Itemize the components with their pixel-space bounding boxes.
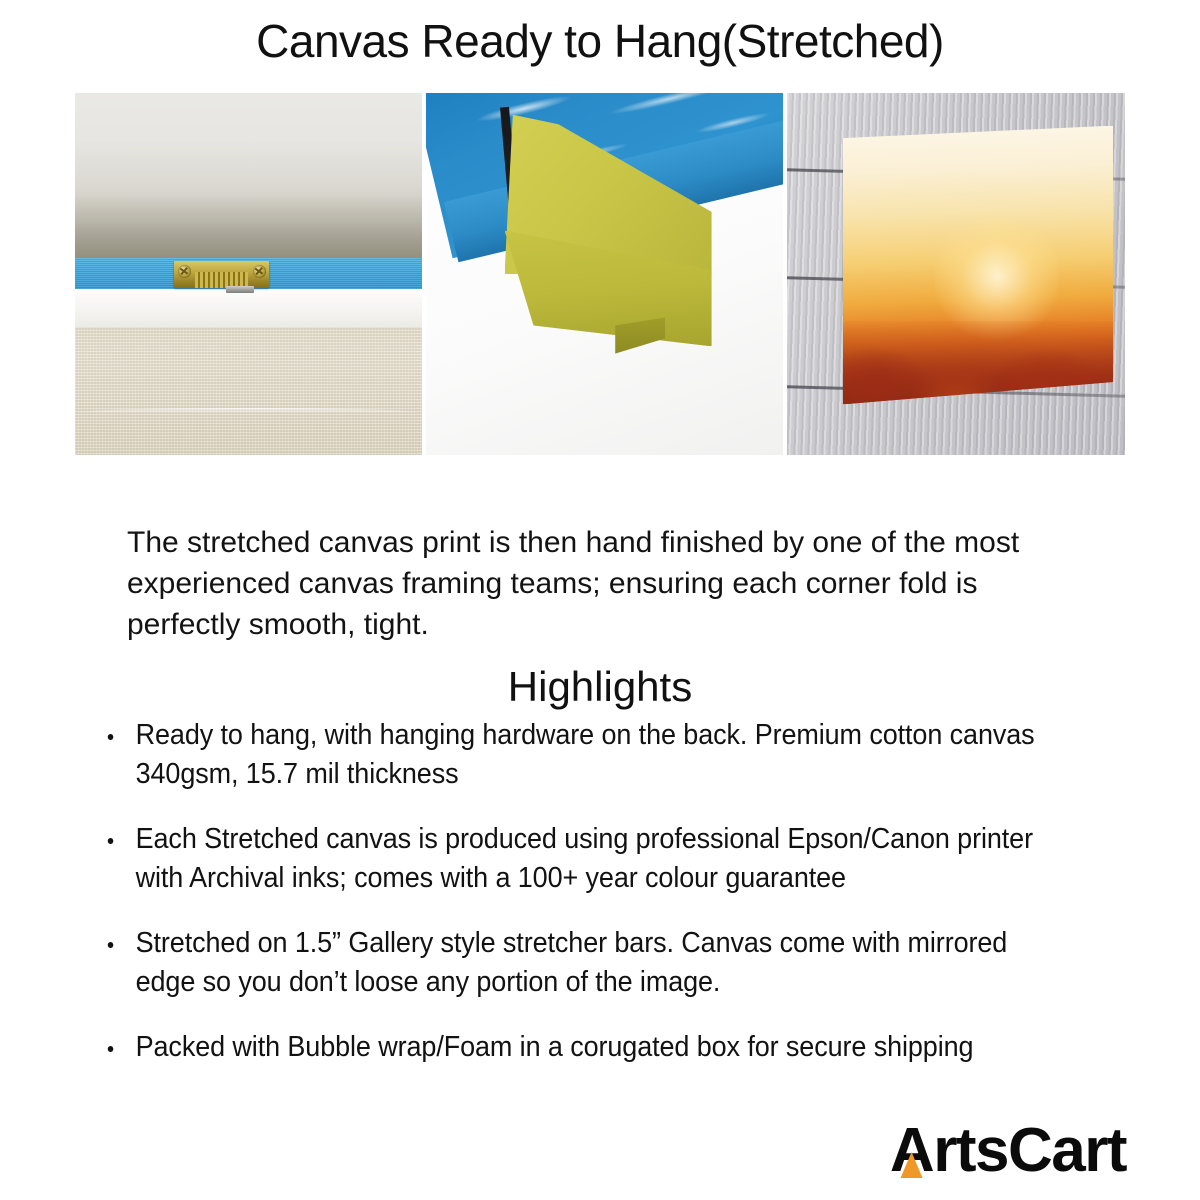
photo1-white-band <box>75 289 422 327</box>
hanger-screw-right <box>253 265 266 278</box>
photo1-wall-backdrop <box>75 93 422 258</box>
highlight-item-text: Packed with Bubble wrap/Foam in a coruga… <box>136 1031 974 1063</box>
bullet-dot-icon <box>108 942 114 948</box>
highlight-item: Packed with Bubble wrap/Foam in a coruga… <box>104 1028 1043 1067</box>
bullet-dot-icon <box>108 838 114 844</box>
logo-wordmark-rest: rtsCart <box>933 1120 1126 1182</box>
highlight-item-text: Ready to hang, with hanging hardware on … <box>136 719 1035 790</box>
logo-letter-a: A <box>890 1120 933 1182</box>
highlight-item-text: Each Stretched canvas is produced using … <box>136 823 1033 894</box>
bullet-dot-icon <box>108 1046 114 1052</box>
highlight-item: Ready to hang, with hanging hardware on … <box>104 716 1043 793</box>
hanger-screw-left <box>178 265 191 278</box>
photo3-sunset-canvas-print <box>843 126 1113 405</box>
photo1-canvas-texture <box>75 327 422 455</box>
canvas-back-hanger-image <box>75 93 422 455</box>
highlights-heading: Highlights <box>0 663 1200 711</box>
sawtooth-hanger-icon <box>174 261 269 288</box>
highlight-item: Stretched on 1.5” Gallery style stretche… <box>104 924 1043 1001</box>
canvas-on-wall-image <box>787 93 1125 455</box>
highlight-item: Each Stretched canvas is produced using … <box>104 820 1043 897</box>
highlights-list: Ready to hang, with hanging hardware on … <box>104 716 1114 1094</box>
photo1-canvas-highlight <box>75 408 422 413</box>
highlight-item-text: Stretched on 1.5” Gallery style stretche… <box>136 927 1008 998</box>
product-description: The stretched canvas print is then hand … <box>127 522 1067 645</box>
canvas-corner-fold-image <box>426 93 783 455</box>
product-image-gallery <box>75 93 1125 455</box>
bullet-dot-icon <box>108 734 114 740</box>
hanger-tab <box>226 286 254 293</box>
page-title: Canvas Ready to Hang(Stretched) <box>0 16 1200 67</box>
artscart-logo: A rtsCart <box>890 1120 1126 1182</box>
orange-triangle-icon <box>900 1152 922 1178</box>
